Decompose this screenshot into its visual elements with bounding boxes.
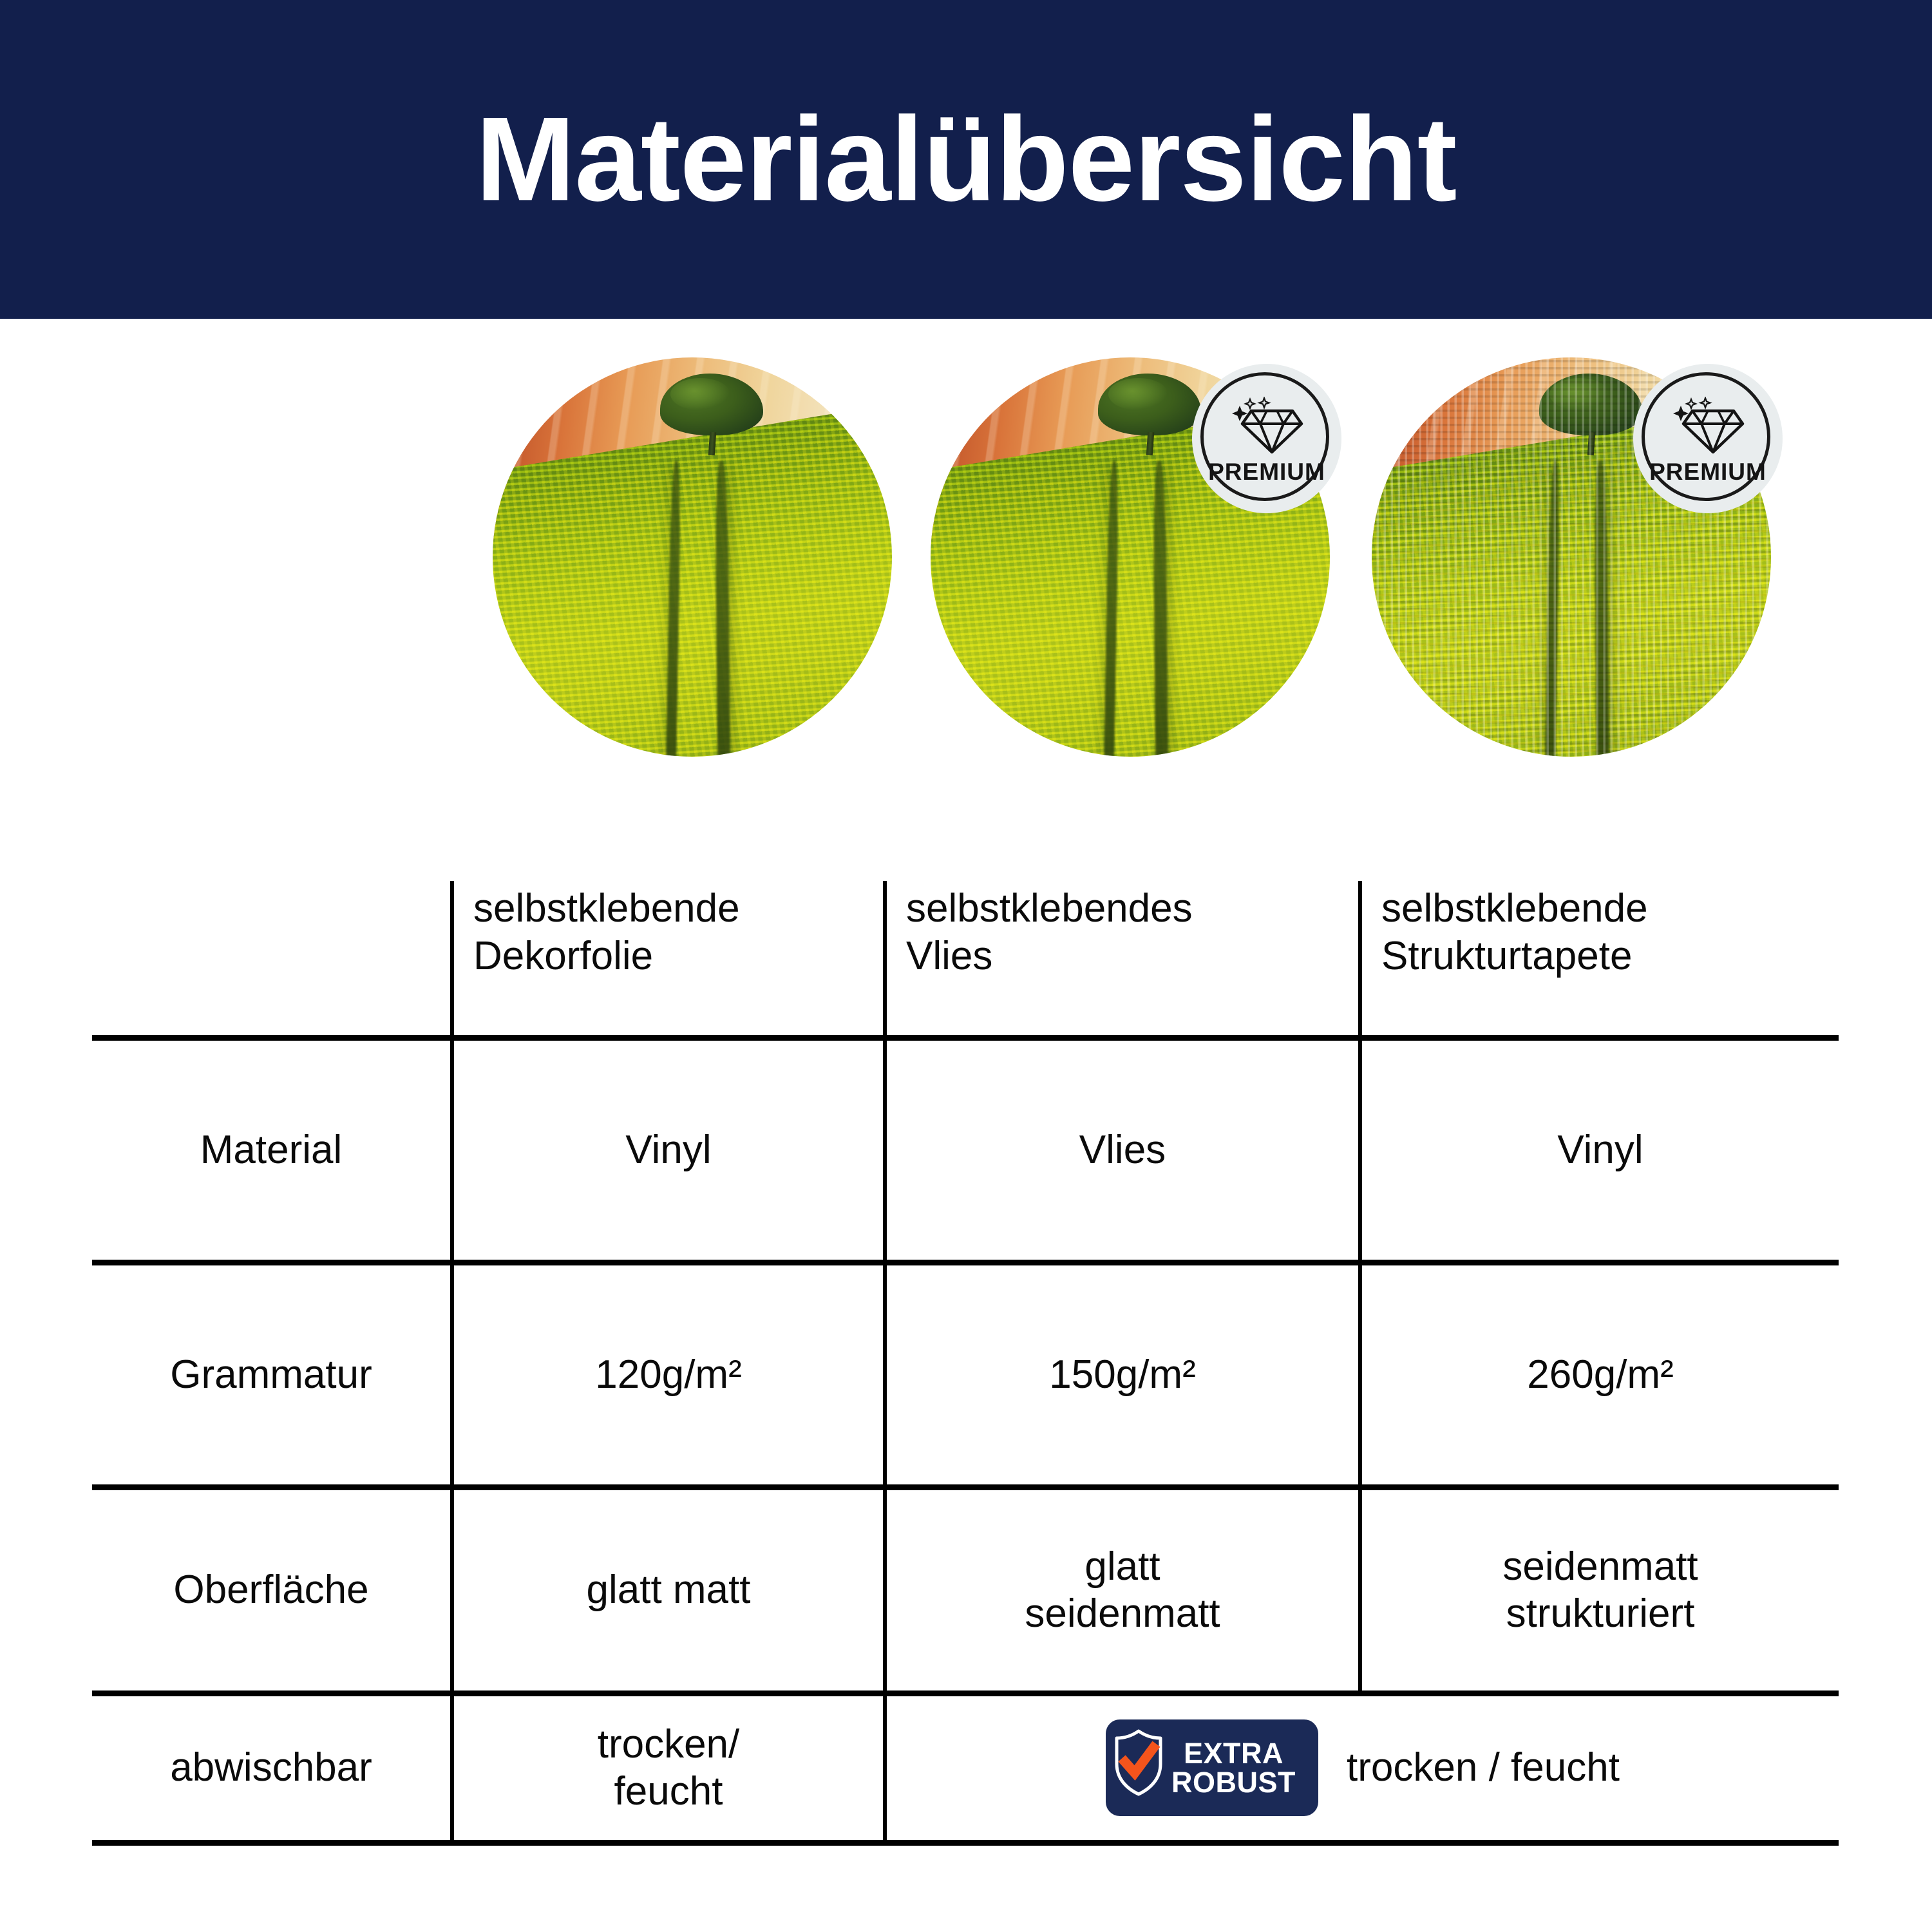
row-label-grammatur: Grammatur [92,1262,452,1487]
cell-abwischbar-dekorfolie: trocken/ feucht [452,1693,885,1842]
cell-line-2: seidenmatt [898,1590,1347,1637]
header-cell-strukturtapete: selbstklebende Strukturtapete [1360,881,1839,1037]
product-preview-vlies[interactable]: PREMIUM [931,357,1330,757]
tree-icon [1539,374,1642,451]
cell-oberflaeche-vlies: glatt seidenmatt [885,1487,1360,1693]
cell-line-2: feucht [466,1768,871,1815]
tree-icon [660,374,763,451]
product-preview-strukturtapete[interactable]: PREMIUM [1372,357,1771,757]
extra-robust-line-2: ROBUST [1171,1768,1296,1797]
diamond-icon [1669,397,1747,456]
tree-canopy [1098,374,1201,435]
table-row: Material Vinyl Vlies Vinyl [92,1037,1839,1262]
cell-grammatur-dekorfolie: 120g/m² [452,1262,885,1487]
material-comparison-table: selbstklebende Dekorfolie selbstklebende… [92,881,1839,1846]
page-title: Materialübersicht [475,100,1456,220]
cell-material-dekorfolie: Vinyl [452,1037,885,1262]
tree-canopy [1539,374,1642,435]
tree-trunk [1146,432,1153,456]
product-preview-row: PREMIUM [0,351,1932,776]
page-header: Materialübersicht [0,0,1932,319]
header-line-2: Vlies [906,933,1347,980]
header-line-2: Strukturtapete [1381,933,1827,980]
premium-badge-label: PREMIUM [1208,460,1325,484]
cell-material-strukturtapete: Vinyl [1360,1037,1839,1262]
tree-canopy [660,374,763,435]
shield-check-icon [1112,1728,1165,1808]
landscape-scene [493,357,892,757]
cell-line-1: trocken/ [466,1721,871,1768]
premium-badge-label: PREMIUM [1649,460,1766,484]
cell-material-vlies: Vlies [885,1037,1360,1262]
cell-grammatur-strukturtapete: 260g/m² [1360,1262,1839,1487]
table-row: abwischbar trocken/ feucht [92,1693,1839,1842]
tree-trunk [708,432,715,456]
table-header-row: selbstklebende Dekorfolie selbstklebende… [92,881,1839,1037]
cell-grammatur-vlies: 150g/m² [885,1262,1360,1487]
header-line-2: Dekorfolie [473,933,871,980]
cell-line-1: glatt matt [466,1566,871,1613]
header-line-1: selbstklebende [1381,885,1827,933]
diamond-icon [1228,397,1305,456]
cell-abwischbar-merged-text: trocken / feucht [1347,1744,1620,1791]
cell-abwischbar-merged: EXTRA ROBUST trocken / feucht [885,1693,1839,1842]
preview-image-circle [493,357,892,757]
header-line-1: selbstklebendes [906,885,1347,933]
table-row: Grammatur 120g/m² 150g/m² 260g/m² [92,1262,1839,1487]
header-cell-dekorfolie: selbstklebende Dekorfolie [452,881,885,1037]
extra-robust-line-1: EXTRA [1171,1739,1296,1768]
row-label-abwischbar: abwischbar [92,1693,452,1842]
cell-oberflaeche-dekorfolie: glatt matt [452,1487,885,1693]
cell-oberflaeche-strukturtapete: seidenmatt strukturiert [1360,1487,1839,1693]
table-row: Oberfläche glatt matt glatt seidenmatt s… [92,1487,1839,1693]
extra-robust-badge: EXTRA ROBUST [1106,1719,1318,1816]
header-corner-cell [92,881,452,1037]
header-cell-vlies: selbstklebendes Vlies [885,881,1360,1037]
row-label-material: Material [92,1037,452,1262]
cell-line-2: strukturiert [1374,1590,1827,1637]
tree-icon [1098,374,1201,451]
premium-badge: PREMIUM [1192,364,1341,513]
row-label-oberflaeche: Oberfläche [92,1487,452,1693]
header-line-1: selbstklebende [473,885,871,933]
premium-badge: PREMIUM [1633,364,1783,513]
cell-line-1: seidenmatt [1374,1543,1827,1590]
product-preview-dekorfolie[interactable] [493,357,892,757]
tree-trunk [1587,432,1595,456]
cell-line-1: glatt [898,1543,1347,1590]
